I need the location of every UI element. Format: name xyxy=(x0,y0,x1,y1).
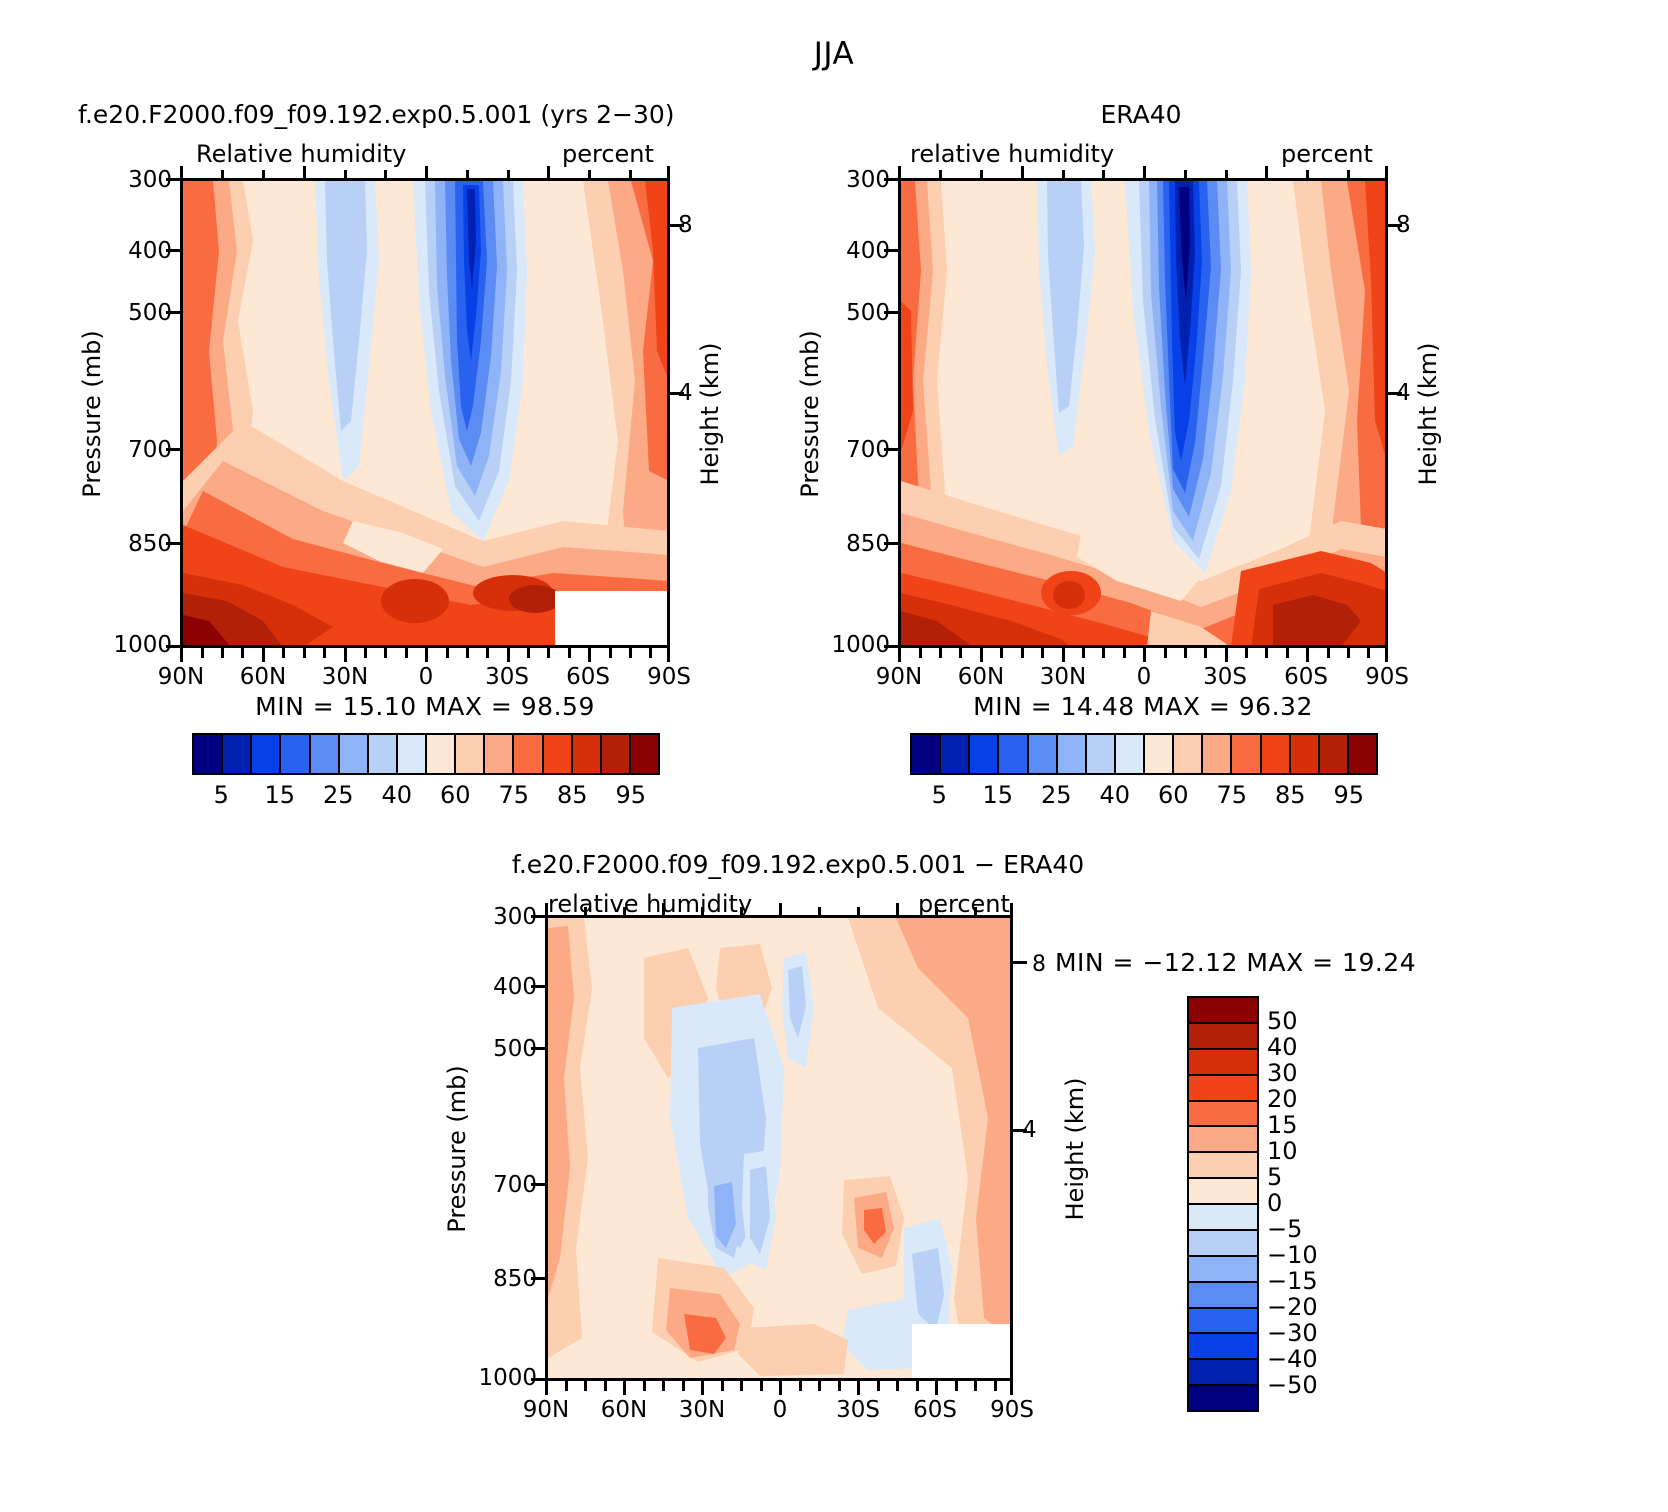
left-y-ticklabel-300: 300 xyxy=(120,167,172,193)
colorbar-swatch xyxy=(456,735,485,773)
colorbar-ticklabel: −40 xyxy=(1267,1345,1318,1373)
colorbar-swatch xyxy=(369,735,398,773)
colorbar-ticklabel: 40 xyxy=(1267,1033,1298,1061)
colorbar-swatch xyxy=(941,735,970,773)
colorbar-swatch xyxy=(252,735,281,773)
right-panel-title: ERA40 xyxy=(896,100,1386,129)
colorbar-swatch xyxy=(912,735,941,773)
left-height-tick xyxy=(670,392,684,395)
colorbar-swatch xyxy=(1189,1309,1257,1335)
colorbar-swatch xyxy=(1349,735,1376,773)
right-panel-variable-label: relative humidity xyxy=(910,140,1114,168)
colorbar-swatch xyxy=(1174,735,1203,773)
left-y-axis-label: Pressure (mb) xyxy=(78,304,106,524)
left-x-ticklabel-0: 0 xyxy=(385,664,467,690)
diff-y-ticklabel-700: 700 xyxy=(485,1172,537,1198)
colorbar-swatch xyxy=(1189,998,1257,1024)
left-panel-units-label: percent xyxy=(562,140,654,168)
left-height-tick xyxy=(670,224,684,227)
right-height-tick xyxy=(1388,224,1402,227)
left-x-ticklabel-60S: 60S xyxy=(547,664,629,690)
colorbar-swatch xyxy=(223,735,252,773)
right-y-tick xyxy=(884,645,898,648)
diff-panel-variable-label: relative humidity xyxy=(548,890,752,918)
colorbar-ticklabel: 30 xyxy=(1267,1059,1298,1087)
diff-panel-title: f.e20.F2000.f09_f09.192.exp0.5.001 − ERA… xyxy=(448,850,1148,879)
diff-y2-axis-label: Height (km) xyxy=(1061,1039,1089,1259)
left-y-tick xyxy=(166,645,180,648)
colorbar-swatch xyxy=(485,735,514,773)
right-y-tick xyxy=(884,542,898,545)
left-y-tick xyxy=(166,311,180,314)
colorbar-swatch xyxy=(1029,735,1058,773)
colorbar-ticklabel: −15 xyxy=(1267,1267,1318,1295)
colorbar-ticklabel: 85 xyxy=(1260,781,1320,809)
colorbar-swatch xyxy=(1189,1360,1257,1386)
right-y-tick xyxy=(884,249,898,252)
colorbar-ticklabel: −20 xyxy=(1267,1293,1318,1321)
right-y-ticklabel-500: 500 xyxy=(838,300,890,326)
colorbar-swatch xyxy=(1189,1024,1257,1050)
right-panel-units-label: percent xyxy=(1281,140,1373,168)
colorbar-swatch xyxy=(544,735,573,773)
colorbar-swatch xyxy=(970,735,999,773)
right-y2-axis-label: Height (km) xyxy=(1414,304,1442,524)
right-y-tick xyxy=(884,311,898,314)
colorbar-ticklabel: 25 xyxy=(308,781,368,809)
right-y-ticklabel-400: 400 xyxy=(838,238,890,264)
diff-y-tick xyxy=(531,1047,545,1050)
colorbar-swatch xyxy=(398,735,427,773)
diff-x-ticklabel-90S: 90S xyxy=(971,1397,1053,1423)
diff-x-ticklabel-0: 0 xyxy=(739,1397,821,1423)
colorbar-swatch xyxy=(281,735,310,773)
colorbar-ticklabel: 40 xyxy=(1085,781,1145,809)
colorbar-swatch xyxy=(1189,1050,1257,1076)
colorbar-ticklabel: 0 xyxy=(1267,1189,1282,1217)
left-panel-title: f.e20.F2000.f09_f09.192.exp0.5.001 (yrs … xyxy=(78,100,675,129)
diff-height-tick xyxy=(1013,961,1027,964)
colorbar-ticklabel: 75 xyxy=(1202,781,1262,809)
left-y-tick xyxy=(166,249,180,252)
right-y-tick xyxy=(884,178,898,181)
colorbar-swatch xyxy=(1262,735,1291,773)
left-x-ticklabel-30N: 30N xyxy=(304,664,386,690)
colorbar-swatch xyxy=(194,735,223,773)
left-x-ticklabel-90S: 90S xyxy=(628,664,710,690)
right-x-ticklabel-90S: 90S xyxy=(1346,664,1428,690)
left-y-ticklabel-1000: 1000 xyxy=(108,632,172,658)
colorbar-ticklabel: 5 xyxy=(191,781,251,809)
colorbar-swatch xyxy=(631,735,658,773)
colorbar-swatch xyxy=(1189,1179,1257,1205)
left-x-ticklabel-90N: 90N xyxy=(140,664,222,690)
right-x-ticklabel-90N: 90N xyxy=(858,664,940,690)
colorbar-ticklabel: 20 xyxy=(1267,1085,1298,1113)
diff-x-ticklabel-30N: 30N xyxy=(661,1397,743,1423)
diff-y-tick xyxy=(531,1183,545,1186)
figure-suptitle: JJA xyxy=(0,36,1668,72)
colorbar-ticklabel: 75 xyxy=(484,781,544,809)
diff-colorbar xyxy=(1187,996,1259,1412)
diff-y-axis-label: Pressure (mb) xyxy=(443,1039,471,1259)
right-y-axis-label: Pressure (mb) xyxy=(796,304,824,524)
colorbar-swatch xyxy=(1291,735,1320,773)
diff-panel-minmax: 8 MIN = −12.12 MAX = 19.24 xyxy=(1032,948,1416,977)
left-y-tick xyxy=(166,178,180,181)
colorbar-ticklabel: 60 xyxy=(425,781,485,809)
left-y-ticklabel-850: 850 xyxy=(120,531,172,557)
colorbar-swatch xyxy=(602,735,631,773)
diff-y-tick xyxy=(531,1378,545,1381)
diff-height-tick-8-label: 8 xyxy=(1032,952,1047,977)
diff-x-ticklabel-90N: 90N xyxy=(505,1397,587,1423)
left-y-ticklabel-500: 500 xyxy=(120,300,172,326)
right-panel-plot xyxy=(898,178,1388,648)
colorbar-ticklabel: −50 xyxy=(1267,1371,1318,1399)
right-panel-minmax: MIN = 14.48 MAX = 96.32 xyxy=(898,692,1388,721)
colorbar-ticklabel: 60 xyxy=(1143,781,1203,809)
diff-x-ticklabel-60S: 60S xyxy=(894,1397,976,1423)
right-y-ticklabel-700: 700 xyxy=(838,437,890,463)
colorbar-swatch xyxy=(1189,1153,1257,1179)
colorbar-swatch xyxy=(1189,1386,1257,1410)
colorbar-swatch xyxy=(1189,1257,1257,1283)
diff-panel-units-label: percent xyxy=(918,890,1010,918)
colorbar-swatch xyxy=(1189,1127,1257,1153)
diff-y-ticklabel-850: 850 xyxy=(485,1266,537,1292)
diff-y-ticklabel-300: 300 xyxy=(485,904,537,930)
diff-panel-plot xyxy=(545,915,1013,1381)
right-colorbar xyxy=(910,733,1378,775)
colorbar-swatch xyxy=(1203,735,1232,773)
colorbar-ticklabel: −10 xyxy=(1267,1241,1318,1269)
colorbar-ticklabel: 50 xyxy=(1267,1007,1298,1035)
colorbar-swatch xyxy=(573,735,602,773)
colorbar-swatch xyxy=(427,735,456,773)
diff-height-tick xyxy=(1013,1129,1027,1132)
left-panel-minmax: MIN = 15.10 MAX = 98.59 xyxy=(180,692,670,721)
colorbar-swatch xyxy=(1232,735,1261,773)
right-x-ticklabel-60S: 60S xyxy=(1265,664,1347,690)
colorbar-ticklabel: 85 xyxy=(542,781,602,809)
colorbar-ticklabel: 15 xyxy=(968,781,1028,809)
left-x-ticklabel-30S: 30S xyxy=(466,664,548,690)
colorbar-ticklabel: 10 xyxy=(1267,1137,1298,1165)
left-panel-variable-label: Relative humidity xyxy=(196,140,406,168)
diff-minmax-text: MIN = −12.12 MAX = 19.24 xyxy=(1055,948,1416,977)
diff-y-tick xyxy=(531,985,545,988)
left-colorbar xyxy=(192,733,660,775)
diff-y-tick xyxy=(531,1277,545,1280)
diff-y-ticklabel-500: 500 xyxy=(485,1036,537,1062)
colorbar-swatch xyxy=(1189,1231,1257,1257)
colorbar-ticklabel: −30 xyxy=(1267,1319,1318,1347)
colorbar-swatch xyxy=(311,735,340,773)
colorbar-swatch xyxy=(1189,1205,1257,1231)
colorbar-swatch xyxy=(1189,1334,1257,1360)
colorbar-swatch xyxy=(1087,735,1116,773)
colorbar-swatch xyxy=(1116,735,1145,773)
diff-y-tick xyxy=(531,915,545,918)
left-y-tick xyxy=(166,448,180,451)
left-y-ticklabel-700: 700 xyxy=(120,437,172,463)
colorbar-swatch xyxy=(1145,735,1174,773)
colorbar-swatch xyxy=(1320,735,1349,773)
colorbar-swatch xyxy=(999,735,1028,773)
colorbar-ticklabel: 25 xyxy=(1026,781,1086,809)
colorbar-swatch xyxy=(1058,735,1087,773)
right-height-tick xyxy=(1388,392,1402,395)
right-x-ticklabel-30N: 30N xyxy=(1022,664,1104,690)
right-x-ticklabel-30S: 30S xyxy=(1184,664,1266,690)
colorbar-swatch xyxy=(340,735,369,773)
diff-y-ticklabel-400: 400 xyxy=(485,974,537,1000)
left-y2-axis-label: Height (km) xyxy=(696,304,724,524)
colorbar-ticklabel: −5 xyxy=(1267,1215,1302,1243)
right-y-ticklabel-1000: 1000 xyxy=(826,632,890,658)
right-x-ticklabel-60N: 60N xyxy=(940,664,1022,690)
colorbar-ticklabel: 15 xyxy=(1267,1111,1298,1139)
colorbar-swatch xyxy=(1189,1283,1257,1309)
colorbar-ticklabel: 5 xyxy=(909,781,969,809)
diff-x-ticklabel-60N: 60N xyxy=(583,1397,665,1423)
diff-y-ticklabel-1000: 1000 xyxy=(473,1365,537,1391)
left-panel-plot xyxy=(180,178,670,648)
right-y-tick xyxy=(884,448,898,451)
right-y-ticklabel-850: 850 xyxy=(838,531,890,557)
left-x-ticklabel-60N: 60N xyxy=(222,664,304,690)
colorbar-ticklabel: 95 xyxy=(601,781,661,809)
colorbar-ticklabel: 15 xyxy=(250,781,310,809)
colorbar-ticklabel: 40 xyxy=(367,781,427,809)
diff-x-ticklabel-30S: 30S xyxy=(817,1397,899,1423)
right-y-ticklabel-300: 300 xyxy=(838,167,890,193)
left-y-tick xyxy=(166,542,180,545)
colorbar-ticklabel: 95 xyxy=(1319,781,1379,809)
left-y-ticklabel-400: 400 xyxy=(120,238,172,264)
colorbar-ticklabel: 5 xyxy=(1267,1163,1282,1191)
colorbar-swatch xyxy=(1189,1102,1257,1128)
right-x-ticklabel-0: 0 xyxy=(1103,664,1185,690)
colorbar-swatch xyxy=(514,735,543,773)
colorbar-swatch xyxy=(1189,1076,1257,1102)
